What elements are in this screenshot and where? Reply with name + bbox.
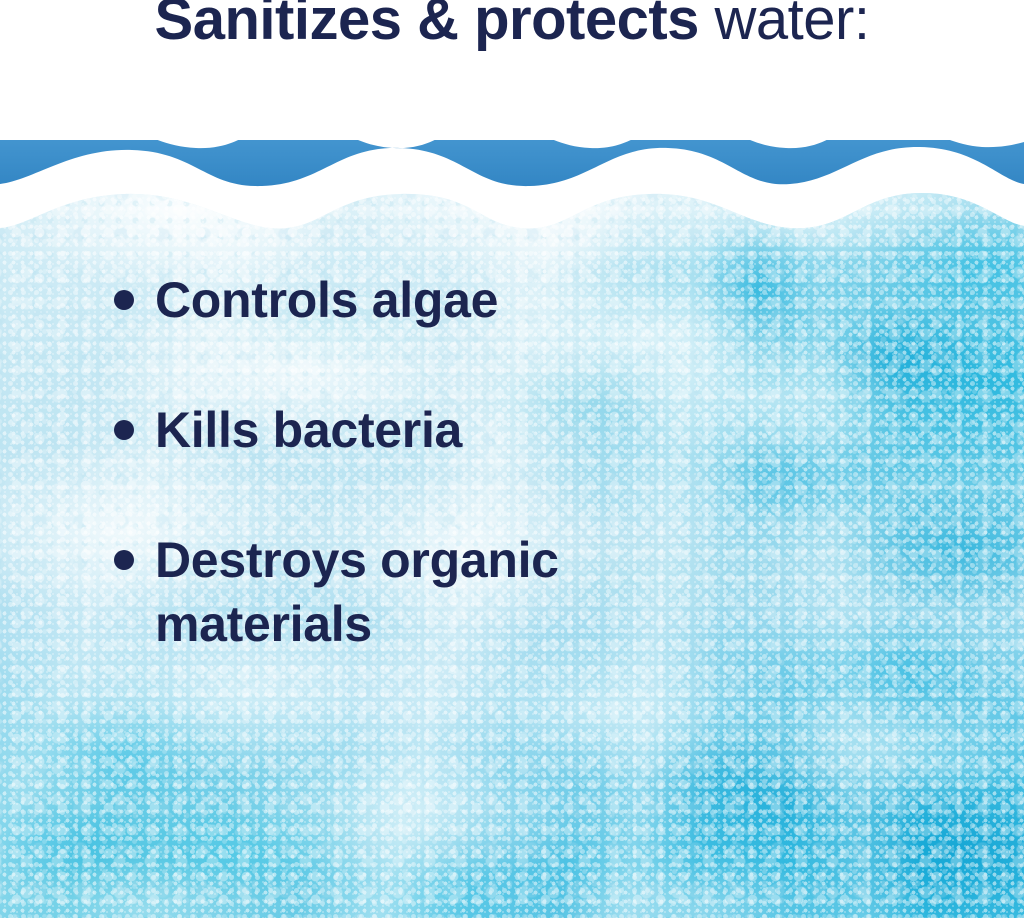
bullet-label: Destroys organic materials [155,528,735,656]
list-item: Destroys organic materials [0,528,1024,656]
bullet-dot-icon [114,550,134,570]
headline-light: water: [699,0,870,52]
list-item: Kills bacteria [0,398,1024,462]
page-title: Sanitizes & protects water: [0,0,1024,56]
bullet-label: Controls algae [155,268,735,332]
product-benefits-card: Sanitizes & protects water: Controls alg… [0,0,1024,918]
bullet-label: Kills bacteria [155,398,735,462]
headline-area: Sanitizes & protects water: [0,0,1024,140]
list-item: Controls algae [0,268,1024,332]
bullet-dot-icon [114,420,134,440]
headline-strong: Sanitizes & protects [155,0,699,52]
bullet-dot-icon [114,290,134,310]
benefits-list: Controls algae Kills bacteria Destroys o… [0,150,1024,656]
